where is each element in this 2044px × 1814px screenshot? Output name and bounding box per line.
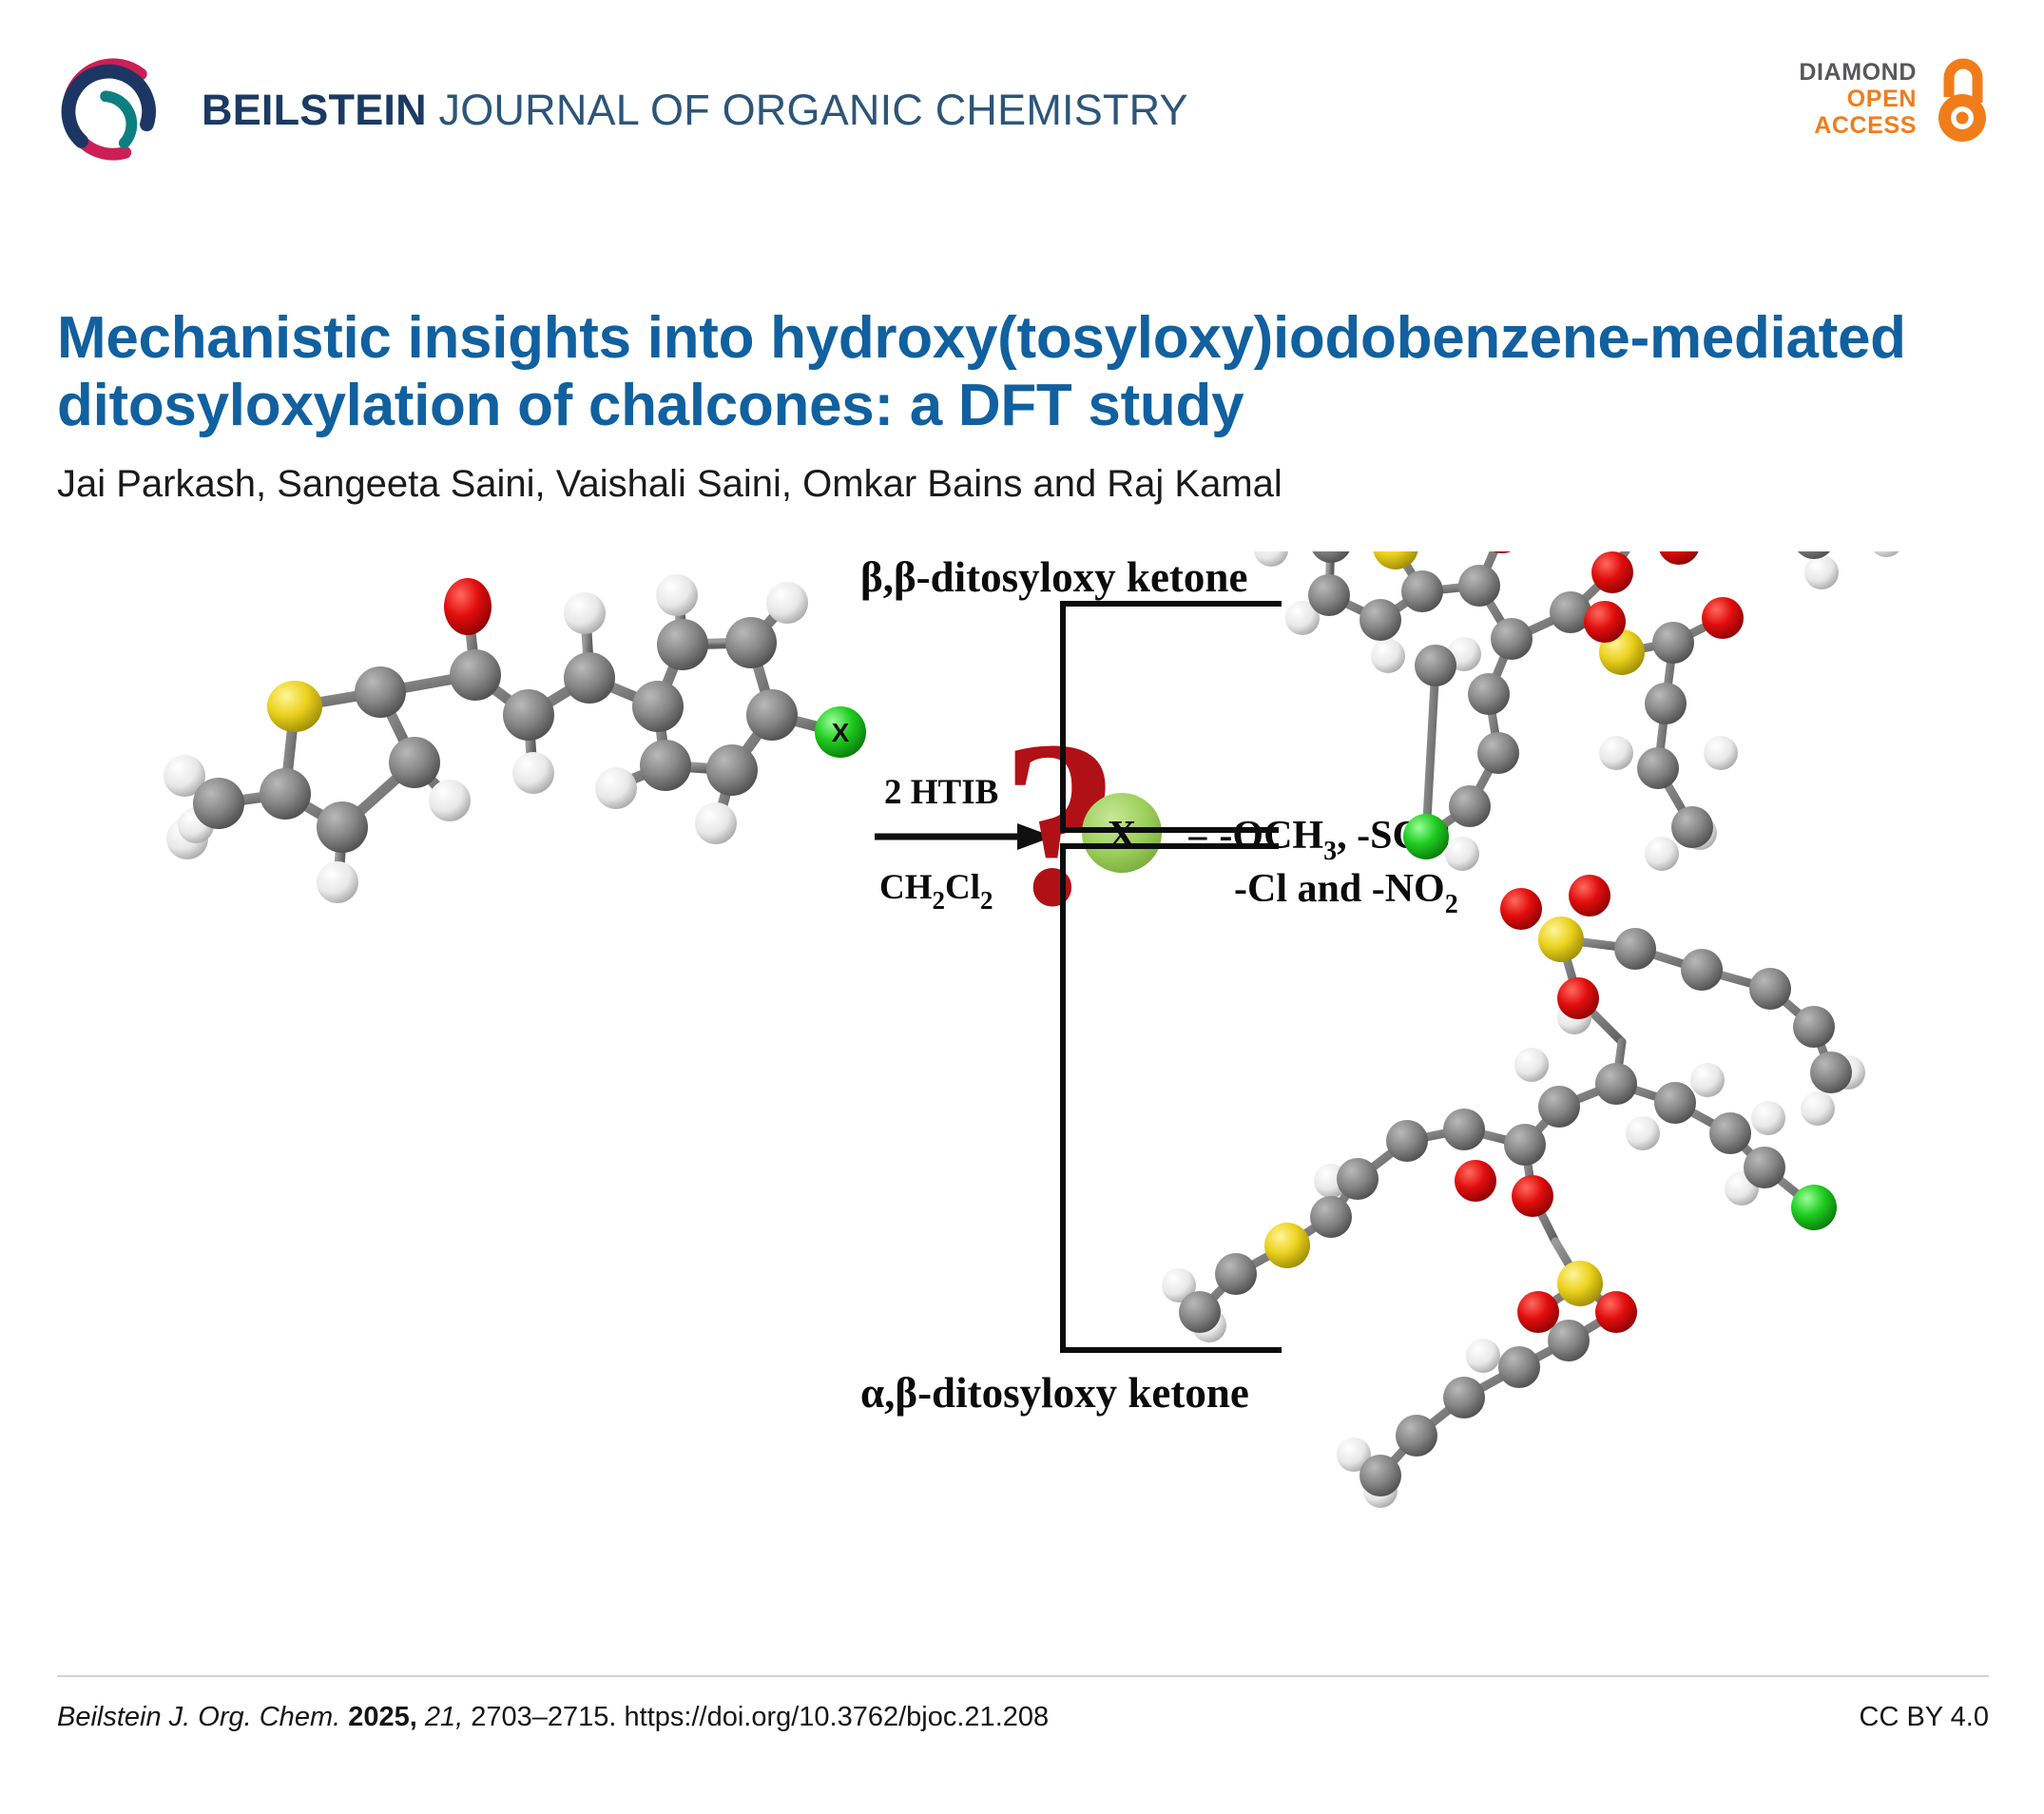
solvent-label: CH2Cl2 <box>879 868 993 915</box>
footer-divider <box>57 1675 1989 1677</box>
sulfur-atom <box>1264 1223 1310 1268</box>
sulfonyl-oxygen <box>1658 551 1700 565</box>
carbon-atoms <box>1308 551 1835 848</box>
sulfonyl-oxygen <box>1595 1291 1637 1333</box>
sulfonyl-oxygen <box>1569 875 1610 917</box>
carbonyl-oxygen <box>1455 1160 1496 1202</box>
masthead-title: BEILSTEIN JOURNAL OF ORGANIC CHEMISTRY <box>202 88 1188 135</box>
beilstein-logo <box>57 55 169 167</box>
journal-brand-lockup[interactable]: BEILSTEIN JOURNAL OF ORGANIC CHEMISTRY <box>57 55 1188 167</box>
oa-access-label: ACCESS <box>1799 112 1917 139</box>
masthead-beilstein: BEILSTEIN <box>202 86 427 134</box>
oxygen-atom <box>444 578 492 635</box>
molecule-starting-chalcone: X <box>164 574 866 903</box>
sulfonyl-sulfur-atom <box>1538 917 1584 962</box>
chlorine-atom <box>1791 1185 1837 1230</box>
open-access-wordmark: DIAMOND OPEN ACCESS <box>1799 59 1917 139</box>
carbonyl-oxygen <box>1481 551 1523 553</box>
ester-oxygen <box>1512 1175 1553 1217</box>
sulfonyl-sulfur-atom <box>1557 1261 1603 1306</box>
sulfonyl-oxygen <box>1500 888 1542 930</box>
citation-volume: 21, <box>425 1702 463 1732</box>
reagent-label: 2 HTIB <box>884 773 998 812</box>
citation-year: 2025, <box>348 1702 417 1732</box>
oa-diamond-label: DIAMOND <box>1799 59 1917 86</box>
license-label[interactable]: CC BY 4.0 <box>1860 1702 1989 1733</box>
substituent-x-atom: X <box>815 706 866 758</box>
masthead-subtitle: JOURNAL OF ORGANIC CHEMISTRY <box>427 86 1188 134</box>
x-bubble-letter: X <box>1108 814 1136 858</box>
diamond-open-access-badge[interactable]: DIAMOND OPEN ACCESS <box>1799 55 1989 143</box>
page-footer: Beilstein J. Org. Chem. 2025, 21, 2703–2… <box>57 1702 1989 1733</box>
substituents-line-2: -Cl and -NO2 <box>1234 867 1458 919</box>
citation-line: Beilstein J. Org. Chem. 2025, 21, 2703–2… <box>57 1702 1049 1733</box>
graphical-abstract: X 2 HTIB CH2Cl2 ? X = -OCH3, -SCH3, -Cl … <box>0 551 2044 1645</box>
article-title: Mechanistic insights into hydroxy(tosylo… <box>57 304 1920 441</box>
ester-oxygen <box>1591 551 1633 593</box>
sulfonyl-oxygen <box>1517 1291 1559 1333</box>
molecule-alpha-beta-ditosyloxy-ketone <box>1162 875 1865 1508</box>
x-atom-letter: X <box>832 718 850 747</box>
author-list: Jai Parkash, Sangeeta Saini, Vaishali Sa… <box>57 461 1920 507</box>
citation-pages-doi[interactable]: 2703–2715. https://doi.org/10.3762/bjoc.… <box>471 1702 1049 1732</box>
open-padlock-icon <box>1930 55 1989 143</box>
carbon-atoms <box>1179 928 1852 1496</box>
citation-journal: Beilstein J. Org. Chem. <box>57 1702 340 1732</box>
bottom-product-label: α,β-ditosyloxy ketone <box>860 1369 1249 1417</box>
top-product-label: β,β-ditosyloxy ketone <box>860 553 1247 601</box>
chlorine-atom <box>1403 814 1449 859</box>
oa-open-label: OPEN <box>1799 86 1917 112</box>
page-header: BEILSTEIN JOURNAL OF ORGANIC CHEMISTRY D… <box>0 0 2044 181</box>
sulfonyl-oxygen <box>1702 597 1744 639</box>
sulfonyl-oxygen <box>1584 601 1626 643</box>
sulfur-atom <box>267 681 322 732</box>
ester-oxygen <box>1557 977 1599 1019</box>
